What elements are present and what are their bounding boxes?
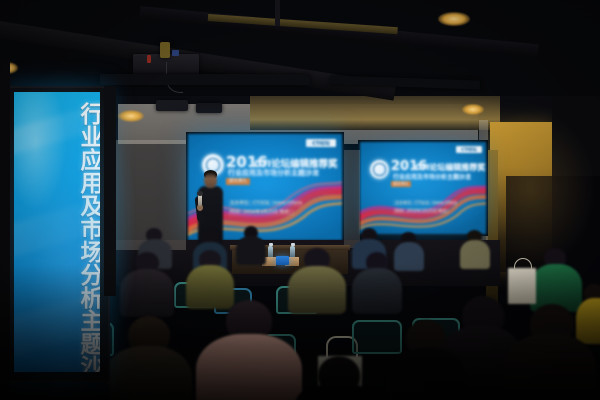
audience-person-pink-top [196, 300, 302, 400]
ceiling-duct-vertical [275, 0, 280, 26]
warm-ceiling-spotlight-right [438, 12, 470, 26]
upper-wall-warm [250, 96, 500, 130]
banner-side-wall [104, 86, 116, 296]
projector-indicator-red [147, 55, 151, 63]
main-screen-info-line-2: 时间：2016年3月25日 地点：北京 [228, 209, 294, 216]
microphone-head [197, 191, 203, 196]
audience-person-long-hair-2 [504, 304, 596, 400]
projector-mount [160, 42, 170, 58]
projector-indicator-blue [172, 50, 179, 56]
secondary-screen-info-line-2: 时间：2016年3月25日 地点：北京 [393, 208, 449, 214]
ceiling-rig-bar [100, 74, 310, 85]
audience-body-pink-top [196, 334, 302, 400]
secondary-screen-award-emblem [370, 160, 389, 179]
audience-person-foreground-center [296, 356, 380, 400]
audience-person-tan-coat [104, 316, 192, 400]
audience-body [460, 240, 490, 269]
conference-hall-photo: CTI论坛 2016 CTI论坛编辑推荐奖 行业应用及市场分析主题沙龙 颁奖典礼… [0, 0, 600, 400]
audience-body-long-hair [504, 334, 596, 400]
vertical-led-banner-text: 行业应用及市场分析主题沙龙 [14, 102, 100, 372]
main-screen-info-line-1: 主办单位：CTI论坛（www.ctiforum.com） [228, 200, 302, 207]
stage-light-box-1 [156, 100, 188, 111]
warm-ceiling-spotlight-far-right [462, 104, 484, 115]
audience-body [104, 346, 192, 400]
secondary-screen-badge: 颁奖典礼 [391, 181, 411, 187]
audience-body [352, 268, 402, 314]
audience-person-back-6 [460, 230, 490, 268]
main-screen-subtitle: 行业应用及市场分析主题沙龙 [228, 168, 319, 178]
left-wall-dark [0, 60, 10, 390]
presenter-head [204, 173, 217, 188]
audience-person-mid-dark-left [120, 252, 174, 314]
audience-body [120, 269, 174, 317]
audience-person-mid-dark-right [352, 252, 402, 312]
shopping-bag-handle-right [514, 258, 532, 270]
stage-light-box-2 [196, 103, 222, 113]
audience-body [386, 348, 466, 400]
warm-ceiling-spotlight-center [118, 110, 144, 122]
audience-body [236, 236, 266, 265]
water-bottle-cap-2 [291, 243, 295, 246]
secondary-projection-screen: CTI论坛 2016 CTI论坛编辑推荐奖 行业应用及市场分析主题沙龙 颁奖典礼… [360, 142, 486, 234]
vertical-led-banner[interactable]: 行业应用及市场分析主题沙龙 [14, 92, 100, 372]
water-bottle-cap-1 [269, 243, 273, 246]
secondary-screen-subtitle: 行业应用及市场分析主题沙龙 [393, 172, 471, 181]
audience-person-back-3 [236, 226, 266, 264]
secondary-screen-info-line-1: 主办单位：CTI论坛（www.ctiforum.com） [393, 200, 457, 206]
audience-person-green-jacket [530, 248, 582, 310]
audience-person-front-right-dark [386, 320, 466, 400]
main-screen-corner-logo: CTI论坛 [306, 139, 336, 147]
secondary-screen-corner-logo: CTI论坛 [456, 146, 482, 153]
audience-body [296, 384, 380, 400]
main-screen-badge: 颁奖典礼 [226, 178, 250, 185]
